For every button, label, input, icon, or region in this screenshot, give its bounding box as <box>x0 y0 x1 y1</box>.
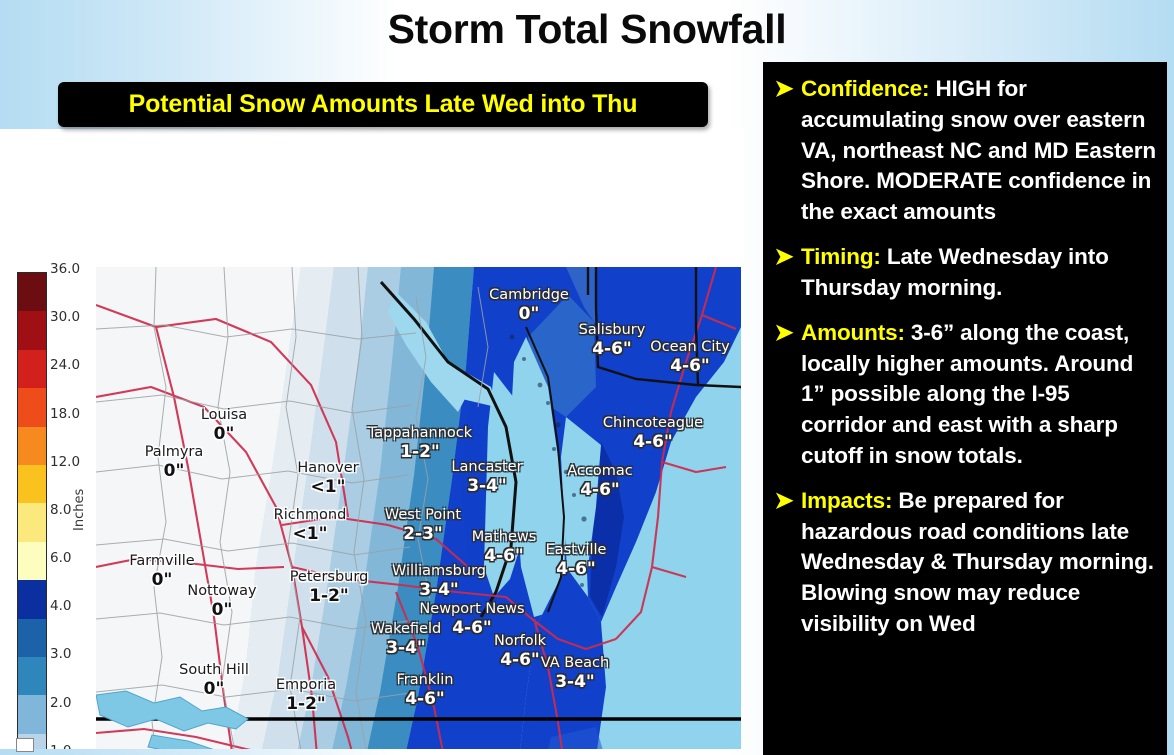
colorbar-tick: 18.0 <box>50 406 80 422</box>
colorbar-tick: 8.0 <box>50 502 71 518</box>
colorbar-tick: 1.0 <box>50 743 71 749</box>
forecast-bullet-text: Confidence: HIGH for accumulating snow o… <box>801 74 1157 228</box>
forecast-bullet-lead: Timing: <box>801 244 881 269</box>
colorbar-axis-label: Inches <box>72 489 87 531</box>
map-svg <box>96 267 741 749</box>
colorbar-segment <box>18 350 46 388</box>
arrow-bullet-icon: ➤ <box>767 318 801 472</box>
colorbar-tick: 6.0 <box>50 550 71 566</box>
colorbar-tick: 36.0 <box>50 261 80 277</box>
forecast-bullet: ➤Timing: Late Wednesday into Thursday mo… <box>767 242 1157 304</box>
colorbar-segment <box>18 503 46 541</box>
forecast-bullet-lead: Confidence: <box>801 76 929 101</box>
colorbar-tick: 4.0 <box>50 598 71 614</box>
colorbar-tick: 3.0 <box>50 646 71 662</box>
colorbar-segment <box>18 657 46 695</box>
colorbar-tick: 24.0 <box>50 357 80 373</box>
forecast-bullet: ➤Amounts: 3-6” along the coast, locally … <box>767 318 1157 472</box>
page-title: Storm Total Snowfall <box>0 6 1174 53</box>
legend-footer-box <box>16 738 34 752</box>
forecast-bullet: ➤Confidence: HIGH for accumulating snow … <box>767 74 1157 228</box>
forecast-bullet: ➤Impacts: Be prepared for hazardous road… <box>767 486 1157 640</box>
snowfall-map-graphic: Cambridge 0" Salisbury 4-6" Ocean City 4… <box>96 267 741 749</box>
colorbar-gradient <box>17 272 47 749</box>
map-panel: Cambridge 0" Salisbury 4-6" Ocean City 4… <box>0 129 744 749</box>
forecast-text-panel: ➤Confidence: HIGH for accumulating snow … <box>763 62 1167 755</box>
colorbar-segment <box>18 695 46 733</box>
colorbar-segment <box>18 580 46 618</box>
colorbar-segment <box>18 388 46 426</box>
snowfall-colorbar-legend: 36.030.024.018.012.08.06.04.03.02.01.00.… <box>14 269 94 749</box>
colorbar-segment <box>18 542 46 580</box>
forecast-bullet-text: Amounts: 3-6” along the coast, locally h… <box>801 318 1157 472</box>
arrow-bullet-icon: ➤ <box>767 486 801 640</box>
colorbar-tick: 12.0 <box>50 454 80 470</box>
colorbar-tick: 2.0 <box>50 695 71 711</box>
forecast-bullet-text: Impacts: Be prepared for hazardous road … <box>801 486 1157 640</box>
arrow-bullet-icon: ➤ <box>767 242 801 304</box>
forecast-bullet-lead: Amounts: <box>801 320 905 345</box>
colorbar-segment <box>18 465 46 503</box>
colorbar-segment <box>18 619 46 657</box>
arrow-bullet-icon: ➤ <box>767 74 801 228</box>
colorbar-tick: 30.0 <box>50 309 80 325</box>
map-banner-text: Potential Snow Amounts Late Wed into Thu <box>129 90 638 119</box>
colorbar-segment <box>18 273 46 311</box>
map-banner: Potential Snow Amounts Late Wed into Thu <box>58 82 708 127</box>
forecast-bullet-text: Timing: Late Wednesday into Thursday mor… <box>801 242 1157 304</box>
forecast-bullet-lead: Impacts: <box>801 488 892 513</box>
colorbar-segment <box>18 427 46 465</box>
colorbar-segment <box>18 311 46 349</box>
